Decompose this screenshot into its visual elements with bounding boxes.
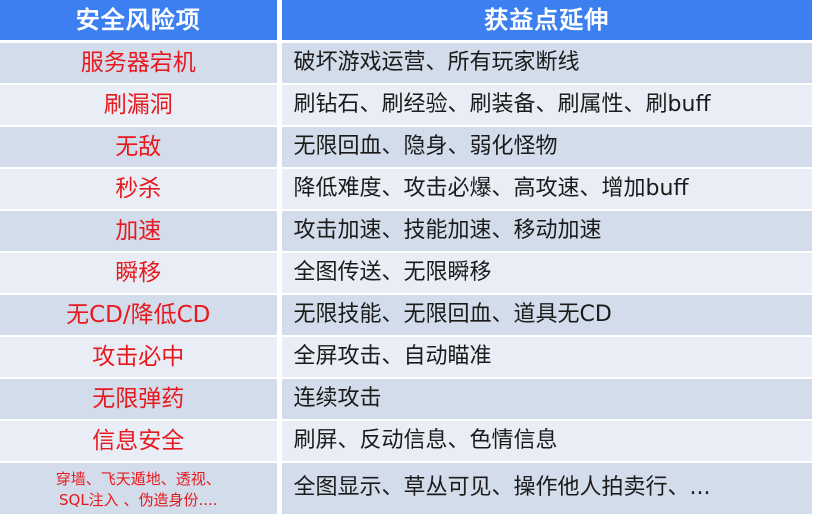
table-row: 刷漏洞 刷钻石、刷经验、刷装备、刷属性、刷buff [0,84,812,126]
table-row: 无敌 无限回血、隐身、弱化怪物 [0,126,812,168]
table-row: 瞬移 全图传送、无限瞬移 [0,252,812,294]
risk-cell: 无敌 [0,126,279,168]
risk-cell: 加速 [0,210,279,252]
risk-benefit-table-container: 安全风险项 获益点延伸 服务器宕机 破坏游戏运营、所有玩家断线 刷漏洞 刷钻石、… [0,0,812,522]
risk-cell: 无CD/降低CD [0,294,279,336]
risk-cell: 秒杀 [0,168,279,210]
benefit-cell: 全图显示、草丛可见、操作他人拍卖行、... [279,462,812,514]
table-header: 安全风险项 获益点延伸 [0,0,812,42]
header-row: 安全风险项 获益点延伸 [0,0,812,42]
column-header-risk: 安全风险项 [0,0,279,42]
risk-benefit-table: 安全风险项 获益点延伸 服务器宕机 破坏游戏运营、所有玩家断线 刷漏洞 刷钻石、… [0,0,812,514]
table-row: 秒杀 降低难度、攻击必爆、高攻速、增加buff [0,168,812,210]
table-row: 无限弹药 连续攻击 [0,378,812,420]
table-row: 服务器宕机 破坏游戏运营、所有玩家断线 [0,42,812,85]
bottom-margin [0,514,825,522]
risk-cell: 服务器宕机 [0,42,279,85]
risk-cell: 信息安全 [0,420,279,462]
table-row: 攻击必中 全屏攻击、自动瞄准 [0,336,812,378]
benefit-cell: 刷钻石、刷经验、刷装备、刷属性、刷buff [279,84,812,126]
column-header-benefit: 获益点延伸 [279,0,812,42]
risk-cell-line-1: 穿墙、飞天遁地、透视、 [4,469,273,489]
table-body: 服务器宕机 破坏游戏运营、所有玩家断线 刷漏洞 刷钻石、刷经验、刷装备、刷属性、… [0,42,812,515]
benefit-cell: 无限回血、隐身、弱化怪物 [279,126,812,168]
risk-cell: 无限弹药 [0,378,279,420]
benefit-cell: 攻击加速、技能加速、移动加速 [279,210,812,252]
benefit-cell: 全图传送、无限瞬移 [279,252,812,294]
table-row: 穿墙、飞天遁地、透视、 SQL注入 、伪造身份.... 全图显示、草丛可见、操作… [0,462,812,514]
risk-cell: 瞬移 [0,252,279,294]
benefit-cell: 破坏游戏运营、所有玩家断线 [279,42,812,85]
table-row: 无CD/降低CD 无限技能、无限回血、道具无CD [0,294,812,336]
benefit-cell: 全屏攻击、自动瞄准 [279,336,812,378]
benefit-cell: 降低难度、攻击必爆、高攻速、增加buff [279,168,812,210]
risk-cell: 刷漏洞 [0,84,279,126]
risk-cell: 穿墙、飞天遁地、透视、 SQL注入 、伪造身份.... [0,462,279,514]
risk-cell: 攻击必中 [0,336,279,378]
table-row: 加速 攻击加速、技能加速、移动加速 [0,210,812,252]
benefit-cell: 连续攻击 [279,378,812,420]
benefit-cell: 无限技能、无限回血、道具无CD [279,294,812,336]
benefit-cell: 刷屏、反动信息、色情信息 [279,420,812,462]
table-row: 信息安全 刷屏、反动信息、色情信息 [0,420,812,462]
